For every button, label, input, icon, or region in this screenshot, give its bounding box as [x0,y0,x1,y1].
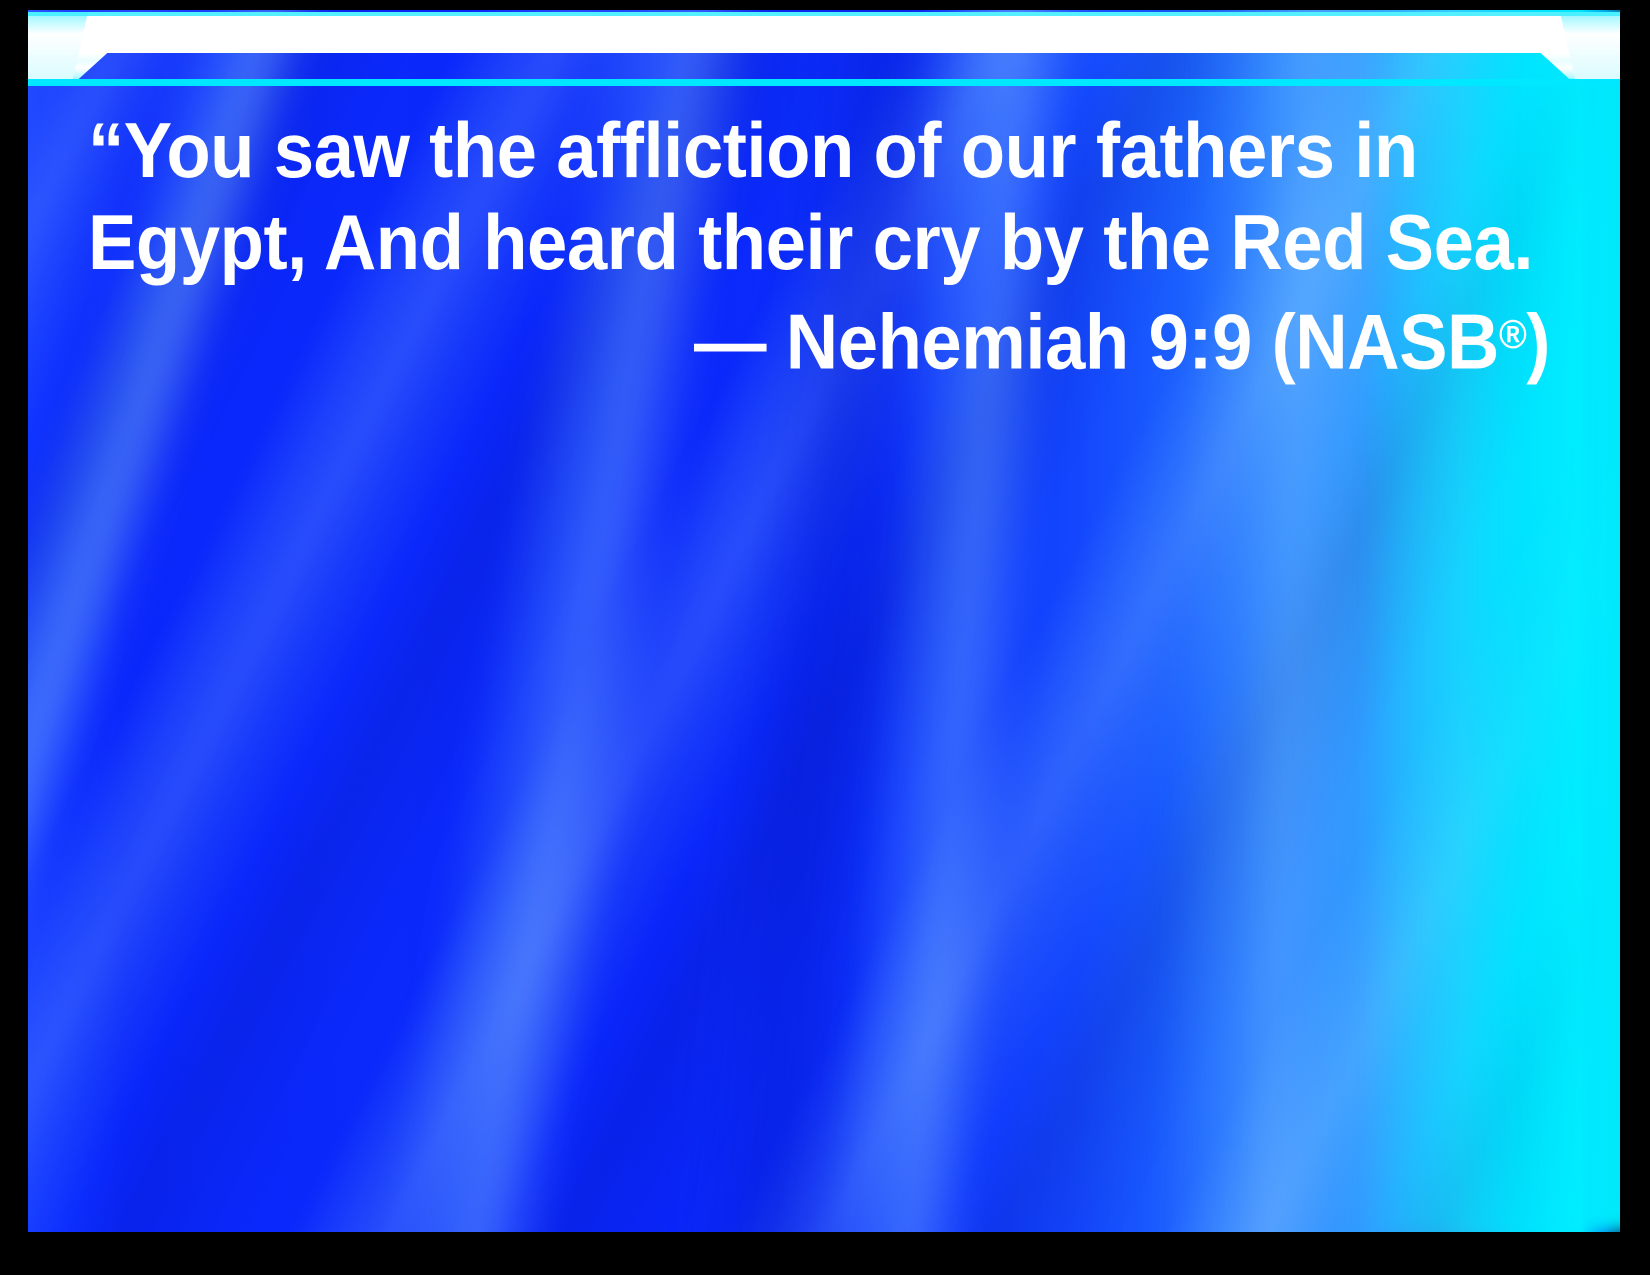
top-decorative-banner [28,12,1620,86]
attribution-suffix: ) [1526,297,1550,385]
banner-bottom-cyan-line [28,79,1620,86]
banner-top-cyan-line [28,12,1620,16]
verse-line-2: Egypt, And heard their cry by the Red Se… [88,196,1448,288]
attribution-prefix: — Nehemiah 9:9 (NASB [694,297,1499,385]
verse-slide: “You saw the affliction of our fathers i… [0,0,1650,1275]
verse-attribution: — Nehemiah 9:9 (NASB®) [190,288,1550,387]
verse-line-1: “You saw the affliction of our fathers i… [88,104,1448,196]
verse-text-block: “You saw the affliction of our fathers i… [88,104,1550,387]
banner-white-core [71,12,1577,53]
registered-trademark-icon: ® [1499,311,1526,357]
